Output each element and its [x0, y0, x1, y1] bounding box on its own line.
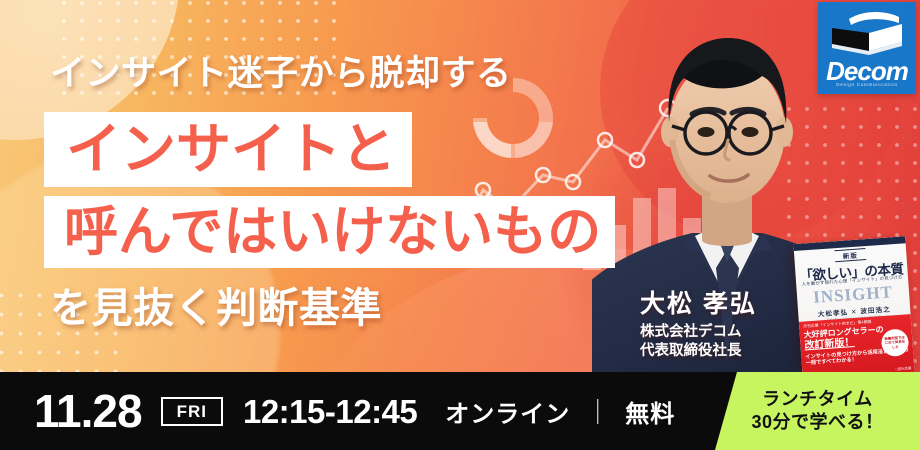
decom-book-mark-icon [829, 11, 905, 57]
decom-tagline: Design Communication [818, 82, 916, 87]
book-obi: 月刊企業「インサイト的まだ」第4期間 大好評ロングセラーの 改訂新版！ インサイ… [799, 314, 915, 380]
headline-line-3: 呼んではいけないもの [44, 196, 615, 268]
speaker-name: 大松 孝弘 [640, 284, 757, 320]
headline-line-2: インサイトと [44, 112, 412, 187]
lunchtime-badge-line-1: ランチタイム [762, 388, 873, 411]
event-price: 無料 [625, 394, 675, 429]
speaker-company: 株式会社デコム [640, 323, 757, 342]
headline-line-4: を見抜く判断基準 [50, 288, 382, 329]
event-time: 12:15-12:45 [243, 395, 417, 428]
decom-wordmark: Decom [818, 58, 916, 84]
decom-logo: Decom Design Communication [818, 2, 916, 94]
event-day-badge: FRI [161, 397, 223, 426]
obi-publisher: □宣伝会議 [896, 365, 912, 371]
speaker-info: 大松 孝弘 株式会社デコム 代表取締役社長 [640, 284, 757, 361]
headline-line-1: インサイト迷子から脱却する [50, 56, 512, 91]
event-format: オンライン [445, 394, 570, 429]
webinar-banner: インサイト迷子から脱却する インサイトと 呼んではいけないもの を見抜く判断基準… [0, 0, 920, 450]
speaker-title: 代表取締役社長 [640, 342, 757, 361]
event-info-bar: 11.28 FRI 12:15-12:45 オンライン ｜ 無料 ランチタイム … [0, 372, 920, 450]
lunchtime-badge-line-2: 30分で学べる！ [751, 411, 883, 434]
book-cover: 新版 「欲しい」の本質 人を動かす隠れた心理「インサイト」の見つけ方 INSIG… [793, 236, 914, 379]
event-date: 11.28 [34, 388, 142, 434]
footer-separator: ｜ [585, 393, 610, 429]
lunchtime-badge: ランチタイム 30分で学べる！ [715, 372, 920, 450]
